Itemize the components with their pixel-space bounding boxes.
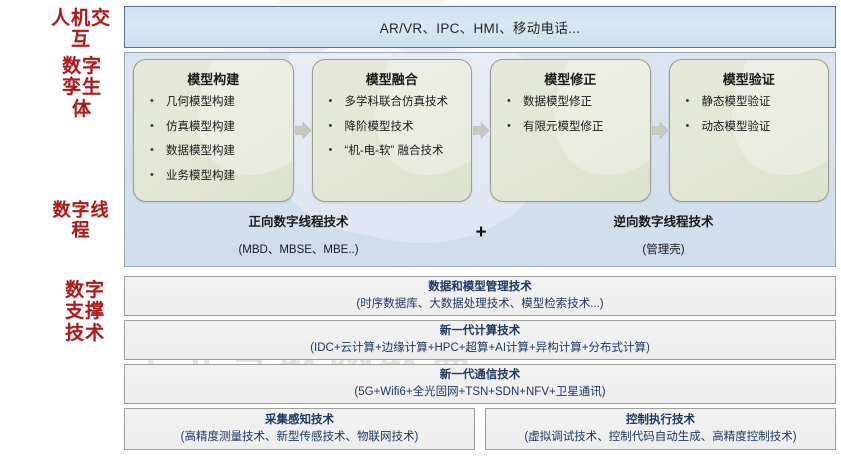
tech-box-title: 控制执行技术 — [626, 414, 695, 428]
list-item: 数据模型修正 — [501, 95, 644, 111]
diagram-root: 工业互联网联盟 Alliance of Industrial Internet … — [0, 0, 841, 463]
model-box-list: 多学科联合仿真技术 降阶模型技术 “机-电-软” 融合技术 — [319, 95, 466, 160]
list-item: 有限元模型修正 — [501, 120, 644, 136]
diagram-content: AR/VR、IPC、HMI、移动电话... 模型构建 几何模型构建 仿真模型构建… — [122, 0, 838, 463]
model-box-title: 模型验证 — [676, 69, 823, 88]
arrow-right-icon — [295, 122, 311, 139]
tech-row-next-gen-computing[interactable]: 新一代计算技术 (IDC+云计算+边缘计算+HPC+超算+AI计算+异构计算+分… — [124, 320, 836, 360]
model-stage-row: 模型构建 几何模型构建 仿真模型构建 数据模型构建 业务模型构建 — [133, 59, 829, 202]
forward-thread-block[interactable]: 正向数字线程技术 (MBD、MBSE、MBE..) — [133, 211, 464, 257]
list-item: 降阶模型技术 — [323, 120, 466, 136]
forward-thread-title: 正向数字线程技术 — [133, 211, 464, 230]
model-box-construction[interactable]: 模型构建 几何模型构建 仿真模型构建 数据模型构建 业务模型构建 — [133, 59, 294, 202]
arrow-right-icon — [473, 122, 489, 139]
model-box-correction[interactable]: 模型修正 数据模型修正 有限元模型修正 — [490, 59, 651, 202]
list-item: 业务模型构建 — [144, 169, 287, 185]
list-item: 仿真模型构建 — [144, 120, 287, 136]
reverse-thread-title: 逆向数字线程技术 — [498, 211, 829, 230]
model-box-list: 数据模型修正 有限元模型修正 — [497, 95, 644, 135]
plus-icon: + — [464, 223, 498, 242]
model-box-title: 模型构建 — [140, 69, 287, 88]
reverse-thread-subtitle: (管理壳) — [498, 241, 829, 257]
tech-row-split: 采集感知技术 (高精度测量技术、新型传感技术、物联网技术) 控制执行技术 (虚拟… — [124, 408, 836, 450]
arrow-gap-2 — [472, 59, 490, 202]
rail-label-digital-thread: 数字线程 — [46, 200, 116, 240]
layer-label-rail: 人机交互 数字孪生体 数字线程 数字支撑技术 — [0, 0, 120, 463]
arrow-gap-1 — [294, 59, 312, 202]
rail-label-digital-twin: 数字孪生体 — [56, 56, 108, 120]
model-box-validation[interactable]: 模型验证 静态模型验证 动态模型验证 — [669, 59, 830, 202]
tech-row-next-gen-communication[interactable]: 新一代通信技术 (5G+Wifi6+全光固网+TSN+SDN+NFV+卫星通讯) — [124, 364, 836, 404]
tech-row-subtitle: (时序数据库、大数据处理技术、模型检索技术...) — [356, 297, 603, 311]
digital-thread-strip: 正向数字线程技术 (MBD、MBSE、MBE..) + 逆向数字线程技术 (管理… — [133, 205, 829, 263]
model-box-title: 模型融合 — [319, 69, 466, 88]
tech-box-control[interactable]: 控制执行技术 (虚拟调试技术、控制代码自动生成、高精度控制技术) — [485, 408, 836, 450]
list-item: “机-电-软” 融合技术 — [323, 144, 466, 160]
model-box-list: 几何模型构建 仿真模型构建 数据模型构建 业务模型构建 — [140, 95, 287, 184]
rail-label-human-machine-interaction: 人机交互 — [46, 8, 116, 51]
tech-row-title: 新一代计算技术 — [440, 325, 521, 339]
list-item: 动态模型验证 — [680, 120, 823, 136]
tech-box-title: 采集感知技术 — [265, 414, 334, 428]
tech-box-subtitle: (高精度测量技术、新型传感技术、物联网技术) — [181, 430, 419, 444]
list-item: 几何模型构建 — [144, 95, 287, 111]
model-box-fusion[interactable]: 模型融合 多学科联合仿真技术 降阶模型技术 “机-电-软” 融合技术 — [312, 59, 473, 202]
tech-row-subtitle: (IDC+云计算+边缘计算+HPC+超算+AI计算+异构计算+分布式计算) — [310, 341, 650, 355]
rail-label-digital-support-tech: 数字支撑技术 — [62, 280, 108, 344]
human-machine-interaction-banner: AR/VR、IPC、HMI、移动电话... — [124, 6, 836, 48]
tech-row-title: 数据和模型管理技术 — [428, 281, 532, 295]
digital-twin-panel: 模型构建 几何模型构建 仿真模型构建 数据模型构建 业务模型构建 — [124, 52, 836, 267]
list-item: 多学科联合仿真技术 — [323, 95, 466, 111]
tech-row-title: 新一代通信技术 — [440, 369, 521, 383]
banner-label: AR/VR、IPC、HMI、移动电话... — [380, 17, 581, 37]
model-box-title: 模型修正 — [497, 69, 644, 88]
tech-row-data-model-management[interactable]: 数据和模型管理技术 (时序数据库、大数据处理技术、模型检索技术...) — [124, 276, 836, 316]
list-item: 数据模型构建 — [144, 144, 287, 160]
arrow-gap-3 — [651, 59, 669, 202]
arrow-right-icon — [652, 122, 668, 139]
tech-box-sensing[interactable]: 采集感知技术 (高精度测量技术、新型传感技术、物联网技术) — [124, 408, 475, 450]
list-item: 静态模型验证 — [680, 95, 823, 111]
forward-thread-subtitle: (MBD、MBSE、MBE..) — [133, 241, 464, 257]
tech-box-subtitle: (虚拟调试技术、控制代码自动生成、高精度控制技术) — [524, 430, 796, 444]
model-box-list: 静态模型验证 动态模型验证 — [676, 95, 823, 135]
tech-row-subtitle: (5G+Wifi6+全光固网+TSN+SDN+NFV+卫星通讯) — [354, 385, 605, 399]
reverse-thread-block[interactable]: 逆向数字线程技术 (管理壳) — [498, 211, 829, 257]
